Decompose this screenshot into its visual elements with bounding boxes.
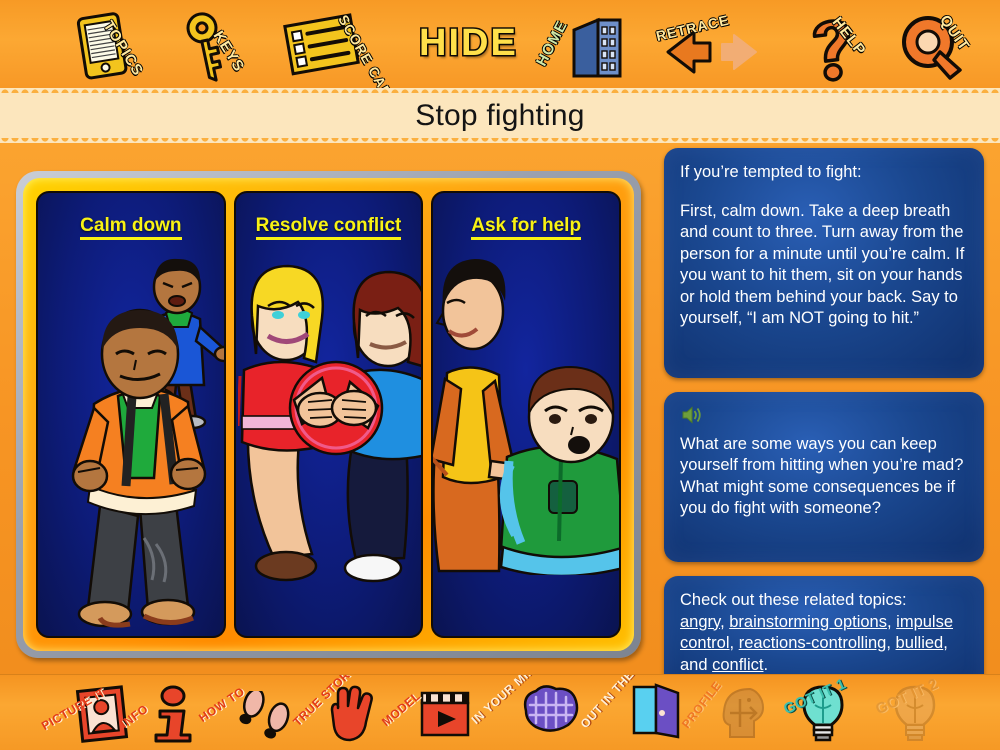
related-topic-link[interactable]: reactions-controlling — [739, 634, 887, 652]
panel-heading-calm-down: Calm down — [38, 215, 224, 237]
bottom-button-info[interactable]: INFO — [126, 675, 204, 750]
bottom-button-picture-it[interactable]: PICTURE IT — [44, 675, 134, 750]
scene-calm-down — [38, 193, 224, 636]
scene-resolve-conflict — [236, 193, 422, 636]
bottom-button-in-your-mind[interactable]: IN YOUR MIND — [478, 675, 588, 750]
related-topic-separator: , — [720, 613, 729, 631]
info-panel-body: First, calm down. Take a deep breath and… — [680, 201, 968, 330]
toolbar-button-scorecard[interactable]: SCORE CARD — [275, 0, 395, 88]
building-icon — [558, 12, 630, 86]
toolbar-button-quit[interactable]: QUIT — [890, 0, 990, 88]
toolbar-button-keys[interactable]: KEYS — [168, 0, 268, 88]
toolbar-button-home[interactable]: HOME — [540, 0, 640, 88]
related-topic-separator: , — [730, 634, 739, 652]
toolbar-button-topics[interactable]: TOPICS — [52, 0, 157, 88]
door-icon — [630, 683, 684, 739]
hide-text-icon: HIDE — [419, 22, 518, 65]
question-panel-text: What are some ways you can keep yourself… — [680, 434, 968, 520]
info-panel-heading: If you’re tempted to fight: — [680, 162, 968, 184]
related-topic-link[interactable]: conflict — [712, 656, 763, 674]
clapperboard-icon — [418, 689, 474, 739]
related-topic-separator: . — [763, 656, 768, 674]
title-band: Stop fighting — [0, 88, 1000, 143]
key-icon — [176, 6, 250, 86]
info-panel: If you’re tempted to fight: First, calm … — [664, 148, 984, 378]
illustration-frame: Calm down — [16, 171, 641, 658]
question-panel: What are some ways you can keep yourself… — [664, 392, 984, 562]
related-topic-link[interactable]: bullied — [896, 634, 944, 652]
scene-ask-for-help — [433, 193, 619, 636]
figure-children-tug-of-ball — [238, 258, 424, 608]
related-topic-link[interactable]: brainstorming options — [729, 613, 887, 631]
application-window: TOPICS KEYS — [0, 0, 1000, 750]
bottom-button-true-story[interactable]: TRUE STORY — [300, 675, 392, 750]
right-column: If you’re tempted to fight: First, calm … — [664, 148, 984, 708]
bottom-toolbar: PICTURE IT INFO HOW TO — [0, 674, 1000, 750]
info-i-icon — [150, 685, 196, 743]
toolbar-button-retrace[interactable]: RETRACE — [648, 0, 788, 88]
speaker-icon[interactable] — [682, 406, 968, 431]
illustration-panel-calm-down[interactable]: Calm down — [36, 191, 226, 638]
illustration-panel-resolve-conflict[interactable]: Resolve conflict — [234, 191, 424, 638]
figure-boy-green-jacket — [475, 365, 621, 575]
bottom-button-profile[interactable]: PROFILE — [690, 675, 782, 750]
head-profile-icon — [716, 685, 770, 741]
page-title: Stop fighting — [0, 88, 1000, 143]
related-topic-link[interactable]: angry — [680, 613, 720, 631]
related-topics-links: angry, brainstorming options, impulse co… — [680, 612, 968, 677]
related-topic-separator: , — [886, 634, 895, 652]
bottom-button-how-to[interactable]: HOW TO — [204, 675, 302, 750]
panel-heading-resolve-conflict: Resolve conflict — [236, 215, 422, 237]
related-topic-separator: , — [887, 613, 896, 631]
related-topics-intro: Check out these related topics: — [680, 590, 968, 612]
footprints-icon — [234, 691, 296, 743]
bottom-button-got-it-1[interactable]: GOT IT 1 — [780, 675, 872, 750]
figure-boy-orange-jacket — [48, 308, 226, 638]
illustration-panel-ask-for-help[interactable]: Ask for help — [431, 191, 621, 638]
top-toolbar: TOPICS KEYS — [0, 0, 1000, 88]
panel-heading-ask-for-help: Ask for help — [433, 215, 619, 237]
brain-icon — [520, 683, 580, 737]
bottom-button-model[interactable]: MODEL — [388, 675, 480, 750]
toolbar-button-help[interactable]: HELP — [790, 0, 885, 88]
bottom-button-out-in-the-world[interactable]: OUT IN THE WORLD — [588, 675, 700, 750]
toolbar-button-hide[interactable]: HIDE — [415, 0, 525, 88]
bottom-button-got-it-2[interactable]: GOT IT 2 — [872, 675, 964, 750]
